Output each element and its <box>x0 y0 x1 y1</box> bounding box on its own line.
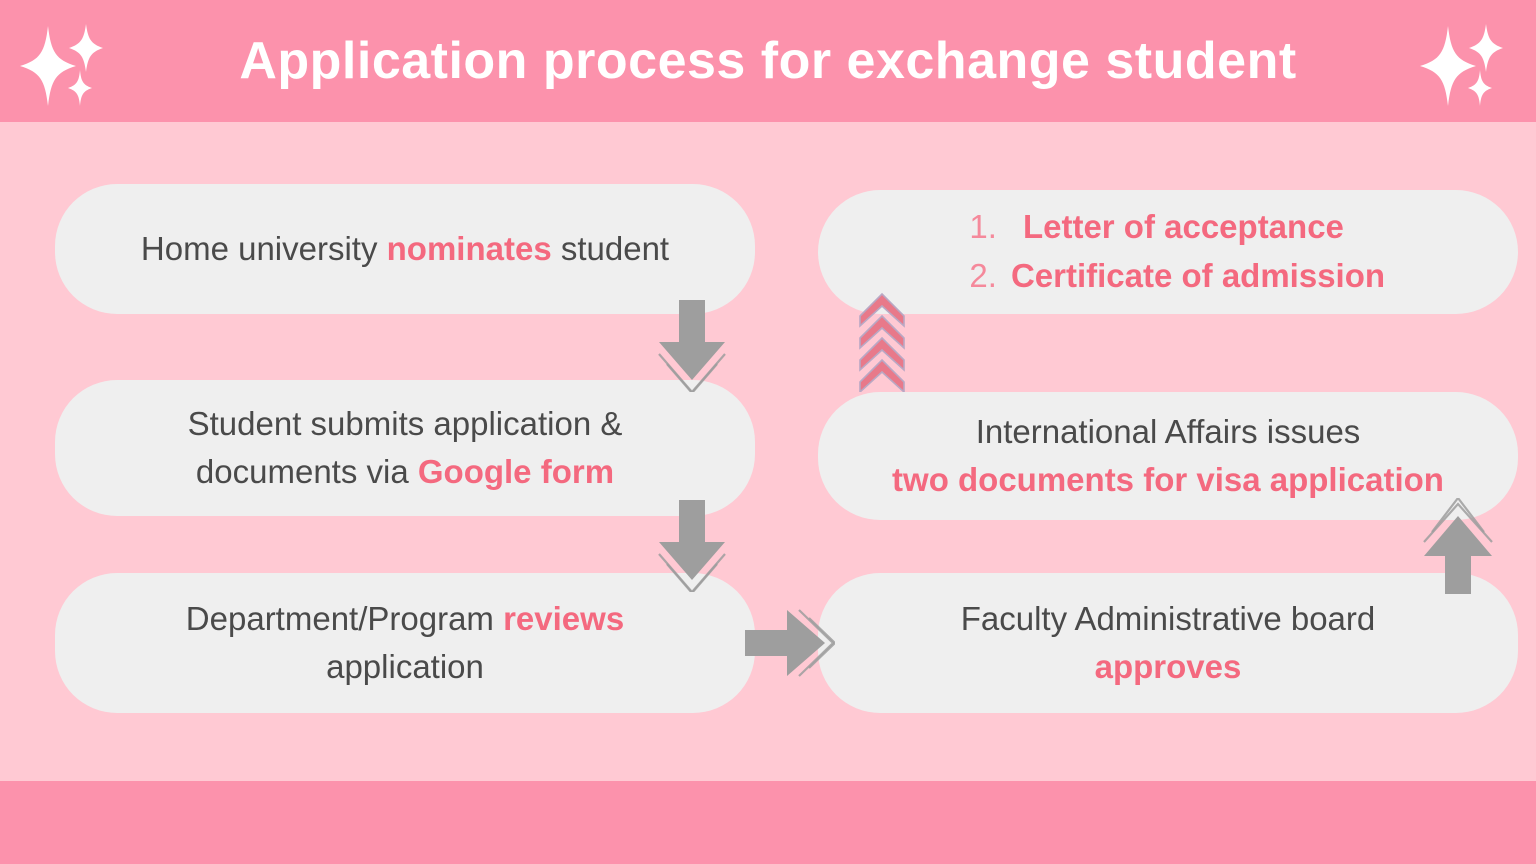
footer-band <box>0 781 1536 864</box>
flow-box-approves: Faculty Administrative board approves <box>818 573 1518 713</box>
accent-text: approves <box>961 643 1376 691</box>
flow-box-submit-text: Student submits application & documents … <box>188 400 623 495</box>
list-item: 1. Letter of acceptance <box>951 204 1385 251</box>
arrow-down-submit-to-review-icon <box>657 500 727 592</box>
flow-box-submit: Student submits application & documents … <box>55 380 755 516</box>
accent-text: two documents for visa application <box>892 456 1444 504</box>
accent-text: nominates <box>387 230 552 267</box>
arrow-up-issues-to-documents-icon <box>858 292 906 392</box>
flow-box-nominate-text: Home university nominates student <box>141 225 669 273</box>
flow-box-review: Department/Program reviews application <box>55 573 755 713</box>
header-band: Application process for exchange student <box>0 0 1536 122</box>
flow-box-nominate: Home university nominates student <box>55 184 755 314</box>
text-part: Home university <box>141 230 387 267</box>
slide-canvas: Application process for exchange student… <box>0 0 1536 864</box>
text-part: Faculty Administrative board <box>961 595 1376 643</box>
text-part: Student submits application & <box>188 400 623 448</box>
list-item-number: 1. <box>951 204 997 251</box>
arrow-right-review-to-approves-icon <box>745 608 835 678</box>
flow-box-documents: 1. Letter of acceptance 2. Certificate o… <box>818 190 1518 314</box>
flow-box-review-text: Department/Program reviews application <box>186 595 624 690</box>
list-item-label: Certificate of admission <box>1011 253 1385 300</box>
documents-list: 1. Letter of acceptance 2. Certificate o… <box>951 204 1385 300</box>
accent-text: reviews <box>503 600 624 637</box>
list-item-number: 2. <box>951 253 997 300</box>
list-item: 2. Certificate of admission <box>951 253 1385 300</box>
sparkles-icon <box>18 18 118 110</box>
flow-box-issues-text: International Affairs issues two documen… <box>892 408 1444 503</box>
arrow-up-approves-to-issues-icon <box>1422 498 1494 594</box>
list-item-label: Letter of acceptance <box>1023 204 1344 251</box>
arrow-down-nominate-to-submit-icon <box>657 300 727 392</box>
text-part: Department/Program <box>186 600 503 637</box>
text-part: International Affairs issues <box>892 408 1444 456</box>
flow-box-issues: International Affairs issues two documen… <box>818 392 1518 520</box>
text-part: application <box>186 643 624 691</box>
text-part: student <box>552 230 669 267</box>
accent-text: Google form <box>418 453 614 490</box>
flow-box-approves-text: Faculty Administrative board approves <box>961 595 1376 690</box>
sparkles-icon <box>1418 18 1518 110</box>
page-title: Application process for exchange student <box>239 35 1296 87</box>
text-part: documents via <box>196 453 418 490</box>
